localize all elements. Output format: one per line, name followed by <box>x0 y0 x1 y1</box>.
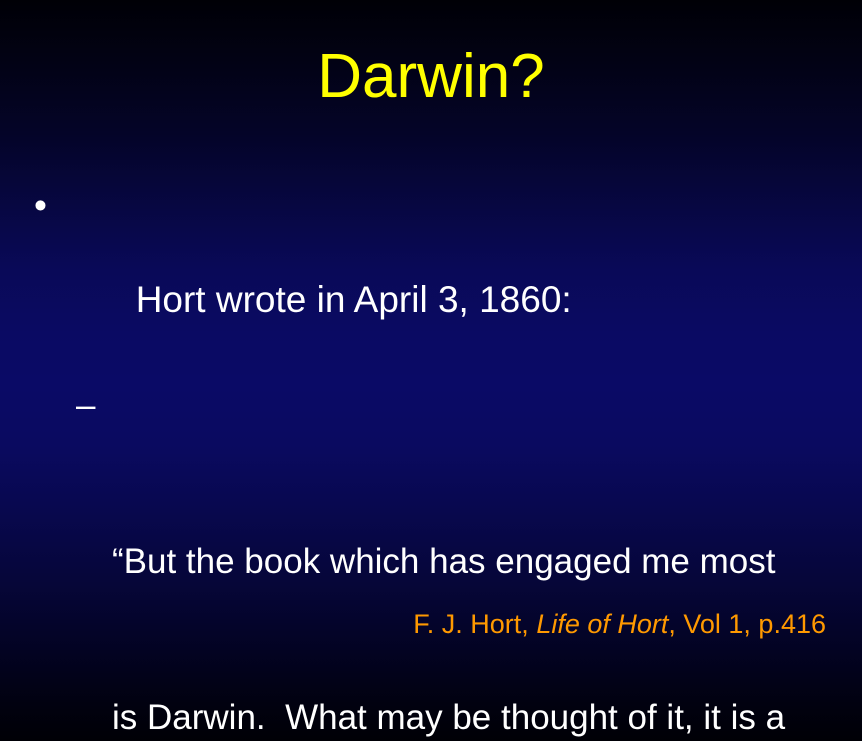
bullet-item-1: • Hort wrote in April 3, 1860: <box>0 182 862 370</box>
quote-line-2: is Darwin. What may be thought of it, it… <box>112 692 862 741</box>
attribution: F. J. Hort, Life of Hort, Vol 1, p.416 <box>0 576 862 672</box>
slide: Darwin? • Hort wrote in April 3, 1860: –… <box>0 0 862 741</box>
dash-marker-icon: – <box>76 380 95 432</box>
attribution-reference: , Vol 1, p.416 <box>668 609 826 639</box>
quote-block: – “But the book which has engaged me mos… <box>0 380 862 741</box>
attribution-author: F. J. Hort, <box>413 609 536 639</box>
attribution-work-title: Life of Hort <box>536 609 668 639</box>
bullet-marker-icon: • <box>34 182 47 229</box>
slide-title: Darwin? <box>0 44 862 110</box>
bullet-text-1: Hort wrote in April 3, 1860: <box>136 279 572 320</box>
